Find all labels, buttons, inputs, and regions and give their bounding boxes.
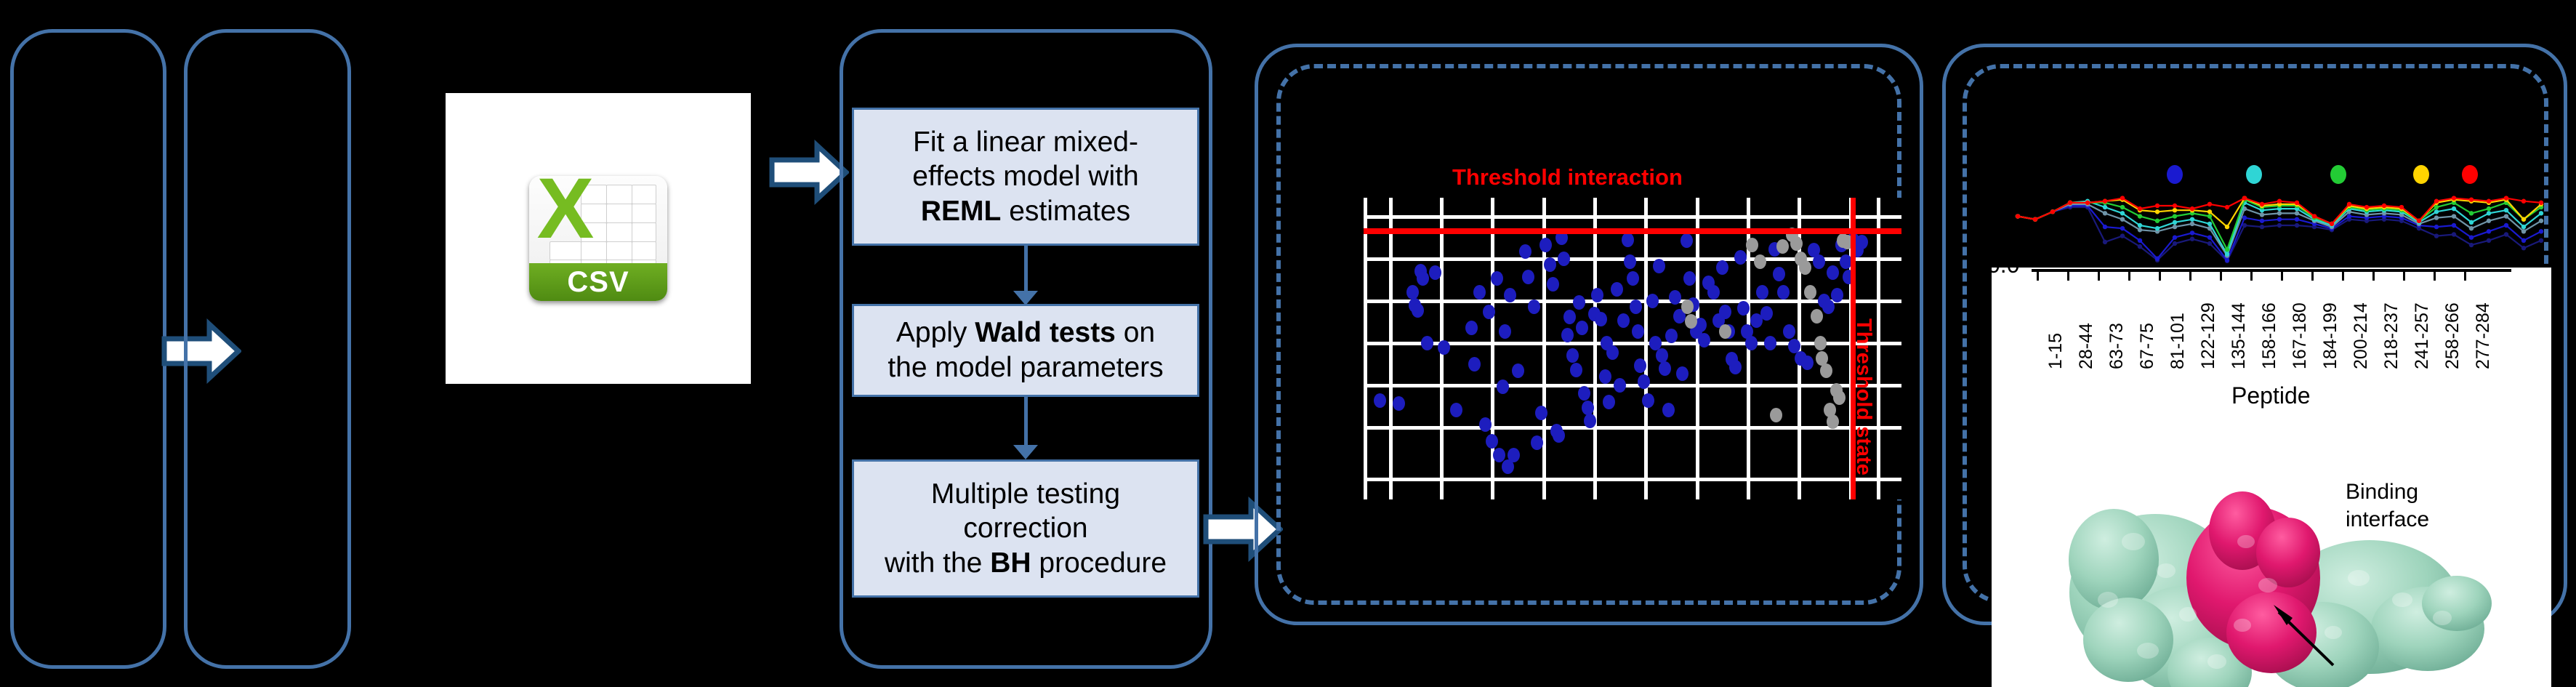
scatter-point <box>1421 336 1433 350</box>
x-axis-tick <box>2098 272 2100 281</box>
peptide-series-marker <box>2207 222 2212 226</box>
peptide-series-marker <box>2347 214 2351 218</box>
peptide-series-marker <box>2138 228 2142 232</box>
scatter-point <box>1611 282 1623 297</box>
reml-line-1: Fit a linear mixed- <box>912 125 1138 160</box>
scatter-point <box>1707 285 1720 300</box>
peptide-series-marker <box>2260 225 2264 229</box>
peptide-series-marker <box>2173 208 2177 212</box>
x-axis-tick <box>2128 272 2130 281</box>
step-box-wald: Apply Wald tests on the model parameters <box>852 304 1199 397</box>
peptide-series-marker <box>2190 206 2194 211</box>
peptide-series-marker <box>2173 220 2177 225</box>
peptide-series-marker <box>2295 201 2299 205</box>
peptide-series-marker <box>2469 235 2474 239</box>
scatter-plot <box>1364 198 1901 499</box>
scatter-point <box>1450 403 1462 417</box>
peptide-series-marker <box>2155 219 2160 223</box>
scatter-point <box>1783 324 1795 339</box>
peptide-series-marker <box>2521 246 2526 250</box>
peptide-series-marker <box>2452 196 2456 200</box>
scatter-point <box>1676 366 1689 381</box>
peptide-series-marker <box>2487 199 2491 204</box>
scatter-point <box>1512 363 1524 378</box>
binding-annotation-line-1: Binding <box>2346 478 2429 506</box>
scatter-point <box>1624 254 1636 269</box>
scatter-point <box>1374 393 1386 408</box>
gridline-v <box>1364 198 1367 499</box>
peptide-series-marker <box>2225 247 2229 252</box>
peptide-series-marker <box>2434 205 2439 209</box>
peptide-series-marker <box>2539 211 2543 215</box>
peptide-series-marker <box>2330 222 2334 226</box>
peptide-series-marker <box>2347 202 2351 206</box>
peptide-series-marker <box>2521 225 2526 229</box>
scatter-point <box>1491 271 1503 286</box>
scatter-point <box>1656 348 1668 363</box>
x-axis-tick <box>2434 272 2436 281</box>
bh-bold: BH <box>990 547 1031 579</box>
peptide-series-marker <box>2487 206 2491 211</box>
x-axis-tick <box>2250 272 2253 281</box>
peptide-series-marker <box>2050 209 2055 214</box>
scatter-point <box>1499 324 1511 339</box>
scatter-point <box>1719 305 1731 319</box>
scatter-point <box>1497 379 1509 394</box>
legend-dot-cyan <box>2246 165 2262 184</box>
x-axis-tick <box>2037 272 2039 281</box>
peptide-series-marker <box>2103 205 2107 209</box>
peptide-series-marker <box>2452 232 2456 236</box>
connector-arrowhead-1 <box>1013 291 1038 305</box>
x-axis-tick-label: 63-73 <box>2106 323 2128 369</box>
bh-line-3: with the BH procedure <box>885 546 1167 581</box>
peptide-series-marker <box>2260 219 2264 223</box>
peptide-series-marker <box>2173 214 2177 218</box>
peptide-series-marker <box>2260 202 2264 206</box>
csv-file-icon: X CSV <box>529 176 667 301</box>
scatter-point <box>1584 414 1596 428</box>
peptide-series-marker <box>2277 211 2282 215</box>
scatter-point <box>1831 288 1843 302</box>
peptide-series-marker <box>2190 237 2194 241</box>
scatter-point <box>1813 254 1825 269</box>
scatter-point <box>1563 310 1576 324</box>
peptide-series-marker <box>2155 209 2160 214</box>
peptide-series-marker <box>2504 223 2508 228</box>
peptide-series-marker <box>2260 212 2264 217</box>
peptide-series-marker <box>2521 217 2526 221</box>
peptide-series-marker <box>2068 201 2072 205</box>
peptide-series-marker <box>2504 232 2508 236</box>
csv-file-card: X CSV <box>446 93 751 384</box>
scatter-point <box>1599 369 1611 384</box>
binding-annotation-line-2: interface <box>2346 506 2429 534</box>
peptide-series-marker <box>2434 199 2439 204</box>
y-axis-tick-label: 0.0 <box>1992 268 2019 278</box>
scatter-point <box>1756 285 1768 300</box>
x-axis-tick-label: 200-214 <box>2351 302 2372 369</box>
peptide-series-marker <box>2242 196 2247 200</box>
peptide-series-marker <box>2190 230 2194 235</box>
peptide-series-marker <box>2103 211 2107 215</box>
threshold-state-label: Threshold state <box>1851 318 1875 475</box>
scatter-point <box>1630 300 1642 314</box>
peptide-series-marker <box>2138 238 2142 243</box>
scatter-point <box>1745 336 1758 350</box>
legend-dot-red <box>2462 165 2478 184</box>
scatter-point <box>1716 260 1728 275</box>
scatter-point <box>1595 312 1607 326</box>
step-box-bh: Multiple testing correction with the BH … <box>852 459 1199 598</box>
peptide-series-marker <box>2399 205 2404 209</box>
scatter-point <box>1591 288 1603 302</box>
x-axis-tick <box>2067 272 2069 281</box>
peptide-series-marker <box>2295 211 2299 215</box>
peptide-series-marker <box>2207 209 2212 214</box>
gridline-h <box>1364 384 1901 387</box>
scatter-point <box>1764 336 1776 350</box>
peptide-series-marker <box>2173 225 2177 229</box>
scatter-point <box>1804 285 1816 300</box>
scatter-point <box>1531 435 1543 450</box>
scatter-point <box>1473 285 1486 300</box>
x-axis-tick-label: 241-257 <box>2412 302 2433 369</box>
scatter-point <box>1653 259 1665 273</box>
scatter-point <box>1558 252 1570 266</box>
peptide-series-marker <box>2504 196 2508 200</box>
x-axis-tick <box>2403 272 2405 281</box>
peptide-series-marker <box>2085 201 2090 205</box>
scatter-point <box>1683 271 1696 286</box>
peptide-series-marker <box>2434 215 2439 220</box>
scatter-point <box>1528 300 1540 314</box>
peptide-series-marker <box>2120 211 2125 215</box>
scatter-point <box>1820 363 1832 378</box>
panel-csv-data <box>184 29 351 669</box>
connector-arrowhead-2 <box>1013 445 1038 459</box>
scatter-point <box>1438 340 1450 355</box>
x-axis-tick-label: 277-284 <box>2473 302 2494 369</box>
scatter-point <box>1406 285 1419 300</box>
peptide-series-marker <box>2173 204 2177 208</box>
scatter-point <box>1754 254 1766 269</box>
peptide-series-marker <box>2103 225 2107 229</box>
scatter-point <box>1856 235 1868 249</box>
scatter-point <box>1799 260 1811 275</box>
peptide-series-marker <box>2138 206 2142 211</box>
peptide-series-marker <box>2207 214 2212 218</box>
scatter-point <box>1801 355 1814 370</box>
peptide-series-marker <box>2225 205 2229 209</box>
scatter-point <box>1603 395 1615 409</box>
wald-bold: Wald tests <box>975 317 1116 348</box>
x-axis-tick-label: 28-44 <box>2076 323 2097 369</box>
scatter-point <box>1566 348 1579 363</box>
peptide-series-marker <box>2207 235 2212 239</box>
peptide-series-marker <box>2155 257 2160 261</box>
peptide-series-marker <box>2312 214 2317 218</box>
peptide-series-marker <box>2277 199 2282 204</box>
arrow-panel2-to-panel3 <box>769 140 849 205</box>
peptide-series-marker <box>2120 196 2125 200</box>
peptide-series-marker <box>2539 219 2543 223</box>
x-axis-tick-label: 158-166 <box>2259 302 2280 369</box>
peptide-series-marker <box>2434 233 2439 238</box>
scatter-point <box>1504 288 1516 302</box>
scatter-point <box>1814 336 1827 350</box>
scatter-point <box>1669 290 1681 305</box>
peptide-series-marker <box>2120 205 2125 209</box>
peptide-series-marker <box>2138 214 2142 218</box>
peptide-series-marker <box>2521 199 2526 204</box>
scatter-point <box>1479 417 1492 432</box>
scatter-point <box>1729 360 1742 374</box>
scatter-point <box>1465 321 1478 335</box>
scatter-point <box>1833 390 1846 405</box>
x-axis-tick-label: 81-101 <box>2168 313 2189 369</box>
scatter-point <box>1412 303 1424 318</box>
reml-line-3-post: estimates <box>1001 196 1130 227</box>
x-axis-tick-label: 122-129 <box>2198 302 2219 369</box>
scatter-point <box>1659 361 1671 376</box>
gridline-v <box>1644 198 1648 499</box>
peptide-series-marker <box>2225 252 2229 256</box>
scatter-point <box>1770 408 1782 422</box>
legend-dot-green <box>2330 165 2346 184</box>
x-axis-tick <box>2159 272 2161 281</box>
gridline-v <box>1593 198 1597 499</box>
peptide-series-marker <box>2469 220 2474 225</box>
step-box-reml: Fit a linear mixed- effects model with R… <box>852 108 1199 246</box>
scatter-point <box>1614 378 1626 393</box>
x-axis-tick <box>2281 272 2283 281</box>
bh-line-2: correction <box>885 511 1167 546</box>
x-axis-tick-label: 67-75 <box>2137 323 2158 369</box>
scatter-point <box>1681 233 1693 248</box>
connector-wald-to-bh <box>1024 397 1028 449</box>
peptide-series-marker <box>2120 226 2125 230</box>
scatter-point <box>1508 448 1520 462</box>
peptide-series-marker <box>2469 211 2474 215</box>
peptide-series-marker <box>2225 225 2229 229</box>
x-axis-tick <box>2189 272 2191 281</box>
scatter-point <box>1429 265 1441 280</box>
scatter-point <box>1776 239 1789 254</box>
scatter-point <box>1547 277 1559 292</box>
peptide-series-marker <box>2452 223 2456 228</box>
peptide-series-marker <box>2155 204 2160 208</box>
scatter-point <box>1681 300 1694 314</box>
peptide-series-marker <box>2190 217 2194 221</box>
scatter-point <box>1553 428 1565 443</box>
scatter-point <box>1544 257 1556 272</box>
scatter-point <box>1638 374 1650 389</box>
peptide-series-marker <box>2504 208 2508 212</box>
peptide-series-marker <box>2434 225 2439 229</box>
threshold-interaction-line <box>1364 228 1901 234</box>
peptide-series-marker <box>2138 223 2142 228</box>
x-axis-tick-label: 184-199 <box>2320 302 2341 369</box>
protein-structure-image <box>1992 422 2551 687</box>
peptide-series-marker <box>2487 229 2491 233</box>
bh-line-3-pre: with the <box>885 547 990 579</box>
scatter-point <box>1746 238 1758 252</box>
peptide-series-marker <box>2504 214 2508 218</box>
scatter-point <box>1468 357 1481 371</box>
legend-dot-blue <box>2167 165 2183 184</box>
bh-line-3-post: procedure <box>1031 547 1167 579</box>
legend-dot-yellow <box>2413 165 2429 184</box>
scatter-point <box>1576 321 1588 335</box>
peptide-series-marker <box>2539 201 2543 205</box>
peptide-series-marker <box>2539 238 2543 243</box>
scatter-point <box>1561 328 1574 342</box>
peptide-series-marker <box>2190 222 2194 226</box>
x-axis-tick <box>2372 272 2375 281</box>
csv-label: CSV <box>529 263 667 301</box>
peptide-series-marker <box>2521 238 2526 243</box>
peptide-series-marker <box>2364 205 2369 209</box>
scatter-point <box>1417 271 1429 286</box>
x-axis-tick-label: 135-144 <box>2229 302 2250 369</box>
scatter-point <box>1522 270 1534 284</box>
scatter-point <box>1578 386 1590 401</box>
scatter-point <box>1777 285 1790 300</box>
x-axis-line <box>2032 269 2511 272</box>
scatter-point <box>1519 244 1531 259</box>
gridline-v <box>1696 198 1699 499</box>
peptide-series-marker <box>2487 211 2491 215</box>
peptide-series-marker <box>2277 223 2282 228</box>
bh-line-1: Multiple testing <box>885 477 1167 512</box>
scatter-point <box>1570 363 1582 377</box>
peptide-series-marker <box>2173 241 2177 246</box>
peptide-series-marker <box>2207 241 2212 246</box>
peptide-series-marker <box>2452 206 2456 211</box>
wald-line-2: the model parameters <box>887 350 1163 385</box>
scatter-point <box>1606 345 1619 360</box>
peptide-series-marker <box>2173 235 2177 239</box>
scatter-point <box>1632 324 1644 339</box>
peptide-series-marker <box>2469 243 2474 247</box>
peptide-series-marker <box>2452 214 2456 218</box>
peptide-series-marker <box>2417 219 2421 223</box>
peptide-series-marker <box>2382 204 2386 208</box>
excel-x-letter: X <box>532 176 599 246</box>
x-axis-tick-label: 167-180 <box>2290 302 2311 369</box>
reml-line-3: REML estimates <box>912 194 1138 229</box>
wald-line-1: Apply Wald tests on <box>887 316 1163 350</box>
peptide-series-marker <box>2207 202 2212 206</box>
peptide-series-marker <box>2242 215 2247 220</box>
scatter-point <box>1773 267 1785 281</box>
peptide-series-marker <box>2539 229 2543 233</box>
scatter-point <box>1760 306 1773 321</box>
peptide-series-marker <box>2155 226 2160 230</box>
peptide-series-marker <box>2277 217 2282 221</box>
scatter-point <box>1573 295 1585 310</box>
peptide-figure-card: 0.0 1-1528-4463-7367-7581-101122-129135-… <box>1992 268 2551 687</box>
gridline-v <box>1389 198 1393 499</box>
peptide-series-marker <box>2295 223 2299 228</box>
peptide-series-marker <box>2120 233 2125 238</box>
reml-line-2: effects model with <box>912 159 1138 194</box>
x-axis-tick-label: 1-15 <box>2045 333 2066 369</box>
peptide-series-marker <box>2033 217 2037 221</box>
peptide-line-plot <box>1997 182 2564 268</box>
peptide-series-marker <box>2434 209 2439 214</box>
scatter-point <box>1827 265 1839 280</box>
scatter-point <box>1734 250 1747 265</box>
reml-bold: REML <box>921 196 1002 227</box>
peptide-series-marker <box>2487 219 2491 223</box>
gridline-h <box>1364 478 1901 481</box>
peptide-series-marker <box>2138 244 2142 249</box>
scatter-point <box>1393 396 1405 411</box>
scatter-point <box>1617 313 1630 328</box>
peptide-series-marker <box>2487 238 2491 243</box>
scatter-point <box>1719 324 1731 339</box>
scatter-point <box>1627 271 1639 286</box>
peptide-series-marker <box>2469 226 2474 230</box>
peptide-series-marker <box>2103 199 2107 204</box>
panel-input-empty <box>10 29 166 669</box>
threshold-interaction-label: Threshold interaction <box>1452 164 1683 190</box>
scatter-point <box>1642 393 1654 408</box>
x-axis-tick-label: 218-237 <box>2381 302 2402 369</box>
peptide-series-marker <box>2295 217 2299 221</box>
scatter-point <box>1811 309 1823 324</box>
peptide-series-marker <box>2469 197 2474 201</box>
binding-interface-annotation: Binding interface <box>2346 478 2429 533</box>
gridline-h <box>1364 215 1901 219</box>
scatter-point <box>1822 300 1835 314</box>
x-axis-title: Peptide <box>2231 382 2311 409</box>
gridline-v <box>1877 198 1880 499</box>
connector-reml-to-wald <box>1024 246 1028 295</box>
scatter-point <box>1646 294 1659 308</box>
peptide-series-marker <box>2521 229 2526 233</box>
scatter-point <box>1483 305 1495 319</box>
scatter-point <box>1535 406 1547 420</box>
scatter-point <box>1486 434 1498 449</box>
x-axis-tick <box>2464 272 2466 281</box>
peptide-series-marker <box>2103 240 2107 244</box>
x-axis-tick-label: 258-266 <box>2442 302 2463 369</box>
peptide-series-marker <box>2016 214 2020 218</box>
wald-line-1-pre: Apply <box>896 317 975 348</box>
x-axis-tick <box>2311 272 2314 281</box>
scatter-point <box>1622 233 1634 247</box>
scatter-point <box>1698 333 1710 347</box>
scatter-point <box>1665 329 1678 343</box>
peptide-series-marker <box>2120 217 2125 221</box>
x-axis-tick <box>2342 272 2344 281</box>
wald-line-1-post: on <box>1116 317 1155 348</box>
scatter-point <box>1662 403 1675 417</box>
x-axis-tick <box>2220 272 2222 281</box>
gridline-h <box>1364 426 1901 430</box>
peptide-series-marker <box>2225 258 2229 262</box>
scatter-point <box>1539 238 1552 252</box>
